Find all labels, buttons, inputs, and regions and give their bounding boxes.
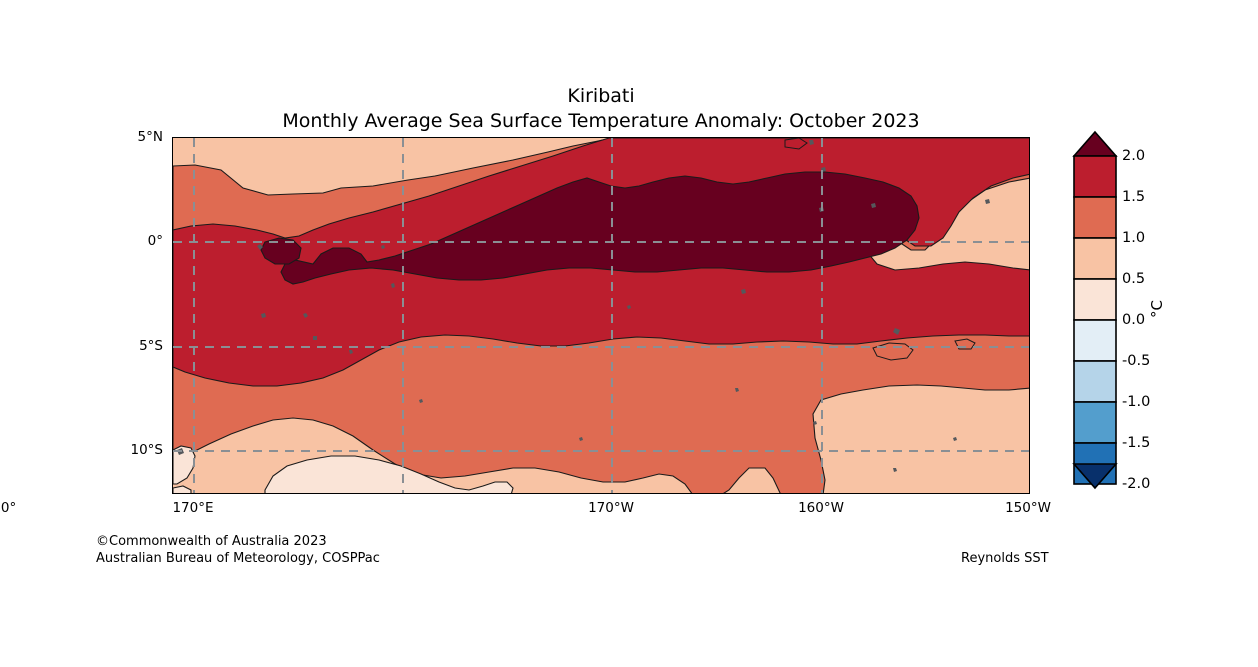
ytick-label-1: 0°: [0, 233, 163, 249]
colorbar-tick-2: 1.0: [1122, 230, 1145, 246]
xtick-label-3: 160°W: [798, 500, 844, 516]
colorbar-tick-8: -2.0: [1122, 476, 1150, 492]
colorbar-extend-max: [1074, 132, 1116, 156]
colorbar-band-neg0p5-0p0: [1074, 320, 1116, 361]
xtick-label-1: 180°: [0, 500, 16, 516]
chart-title: Kiribati Monthly Average Sea Surface Tem…: [172, 84, 1030, 134]
colorbar-band-1p5-2p0: [1074, 156, 1116, 197]
xtick-label-2: 170°W: [588, 500, 634, 516]
title-region: Kiribati: [172, 84, 1030, 109]
footer-agency: Australian Bureau of Meteorology, COSPPa…: [96, 551, 380, 568]
colorbar-tick-5: -0.5: [1122, 353, 1150, 369]
colorbar-tick-4: 0.0: [1122, 312, 1145, 328]
footer-copyright: ©Commonwealth of Australia 2023: [96, 534, 380, 551]
ytick-label-2: 5°S: [0, 338, 163, 354]
colorbar-band-0p5-1p0: [1074, 238, 1116, 279]
colorbar: [1072, 130, 1118, 490]
colorbar-band-0p0-0p5: [1074, 279, 1116, 320]
colorbar-tick-6: -1.0: [1122, 394, 1150, 410]
map-plot-area: [172, 137, 1030, 494]
sst-anomaly-figure: Kiribati Monthly Average Sea Surface Tem…: [0, 0, 1258, 667]
colorbar-tick-3: 0.5: [1122, 271, 1145, 287]
ytick-label-3: 10°S: [0, 442, 163, 458]
title-subtitle: Monthly Average Sea Surface Temperature …: [172, 109, 1030, 134]
colorbar-band-neg1p0-neg0p5: [1074, 361, 1116, 402]
footer-attribution: ©Commonwealth of Australia 2023 Australi…: [96, 534, 380, 567]
colorbar-band-neg1p5-neg1p0: [1074, 402, 1116, 443]
ytick-label-0: 5°N: [0, 129, 163, 145]
footer-dataset: Reynolds SST: [961, 551, 1049, 566]
xtick-label-0: 170°E: [172, 500, 213, 516]
colorbar-tick-7: -1.5: [1122, 435, 1150, 451]
colorbar-band-1p0-1p5: [1074, 197, 1116, 238]
colorbar-tick-0: 2.0: [1122, 148, 1145, 164]
sst-anomaly-contours: [173, 138, 1030, 494]
xtick-label-4: 150°W: [1005, 500, 1051, 516]
colorbar-tick-1: 1.5: [1122, 189, 1145, 205]
colorbar-axis-label: °C: [1148, 300, 1166, 318]
